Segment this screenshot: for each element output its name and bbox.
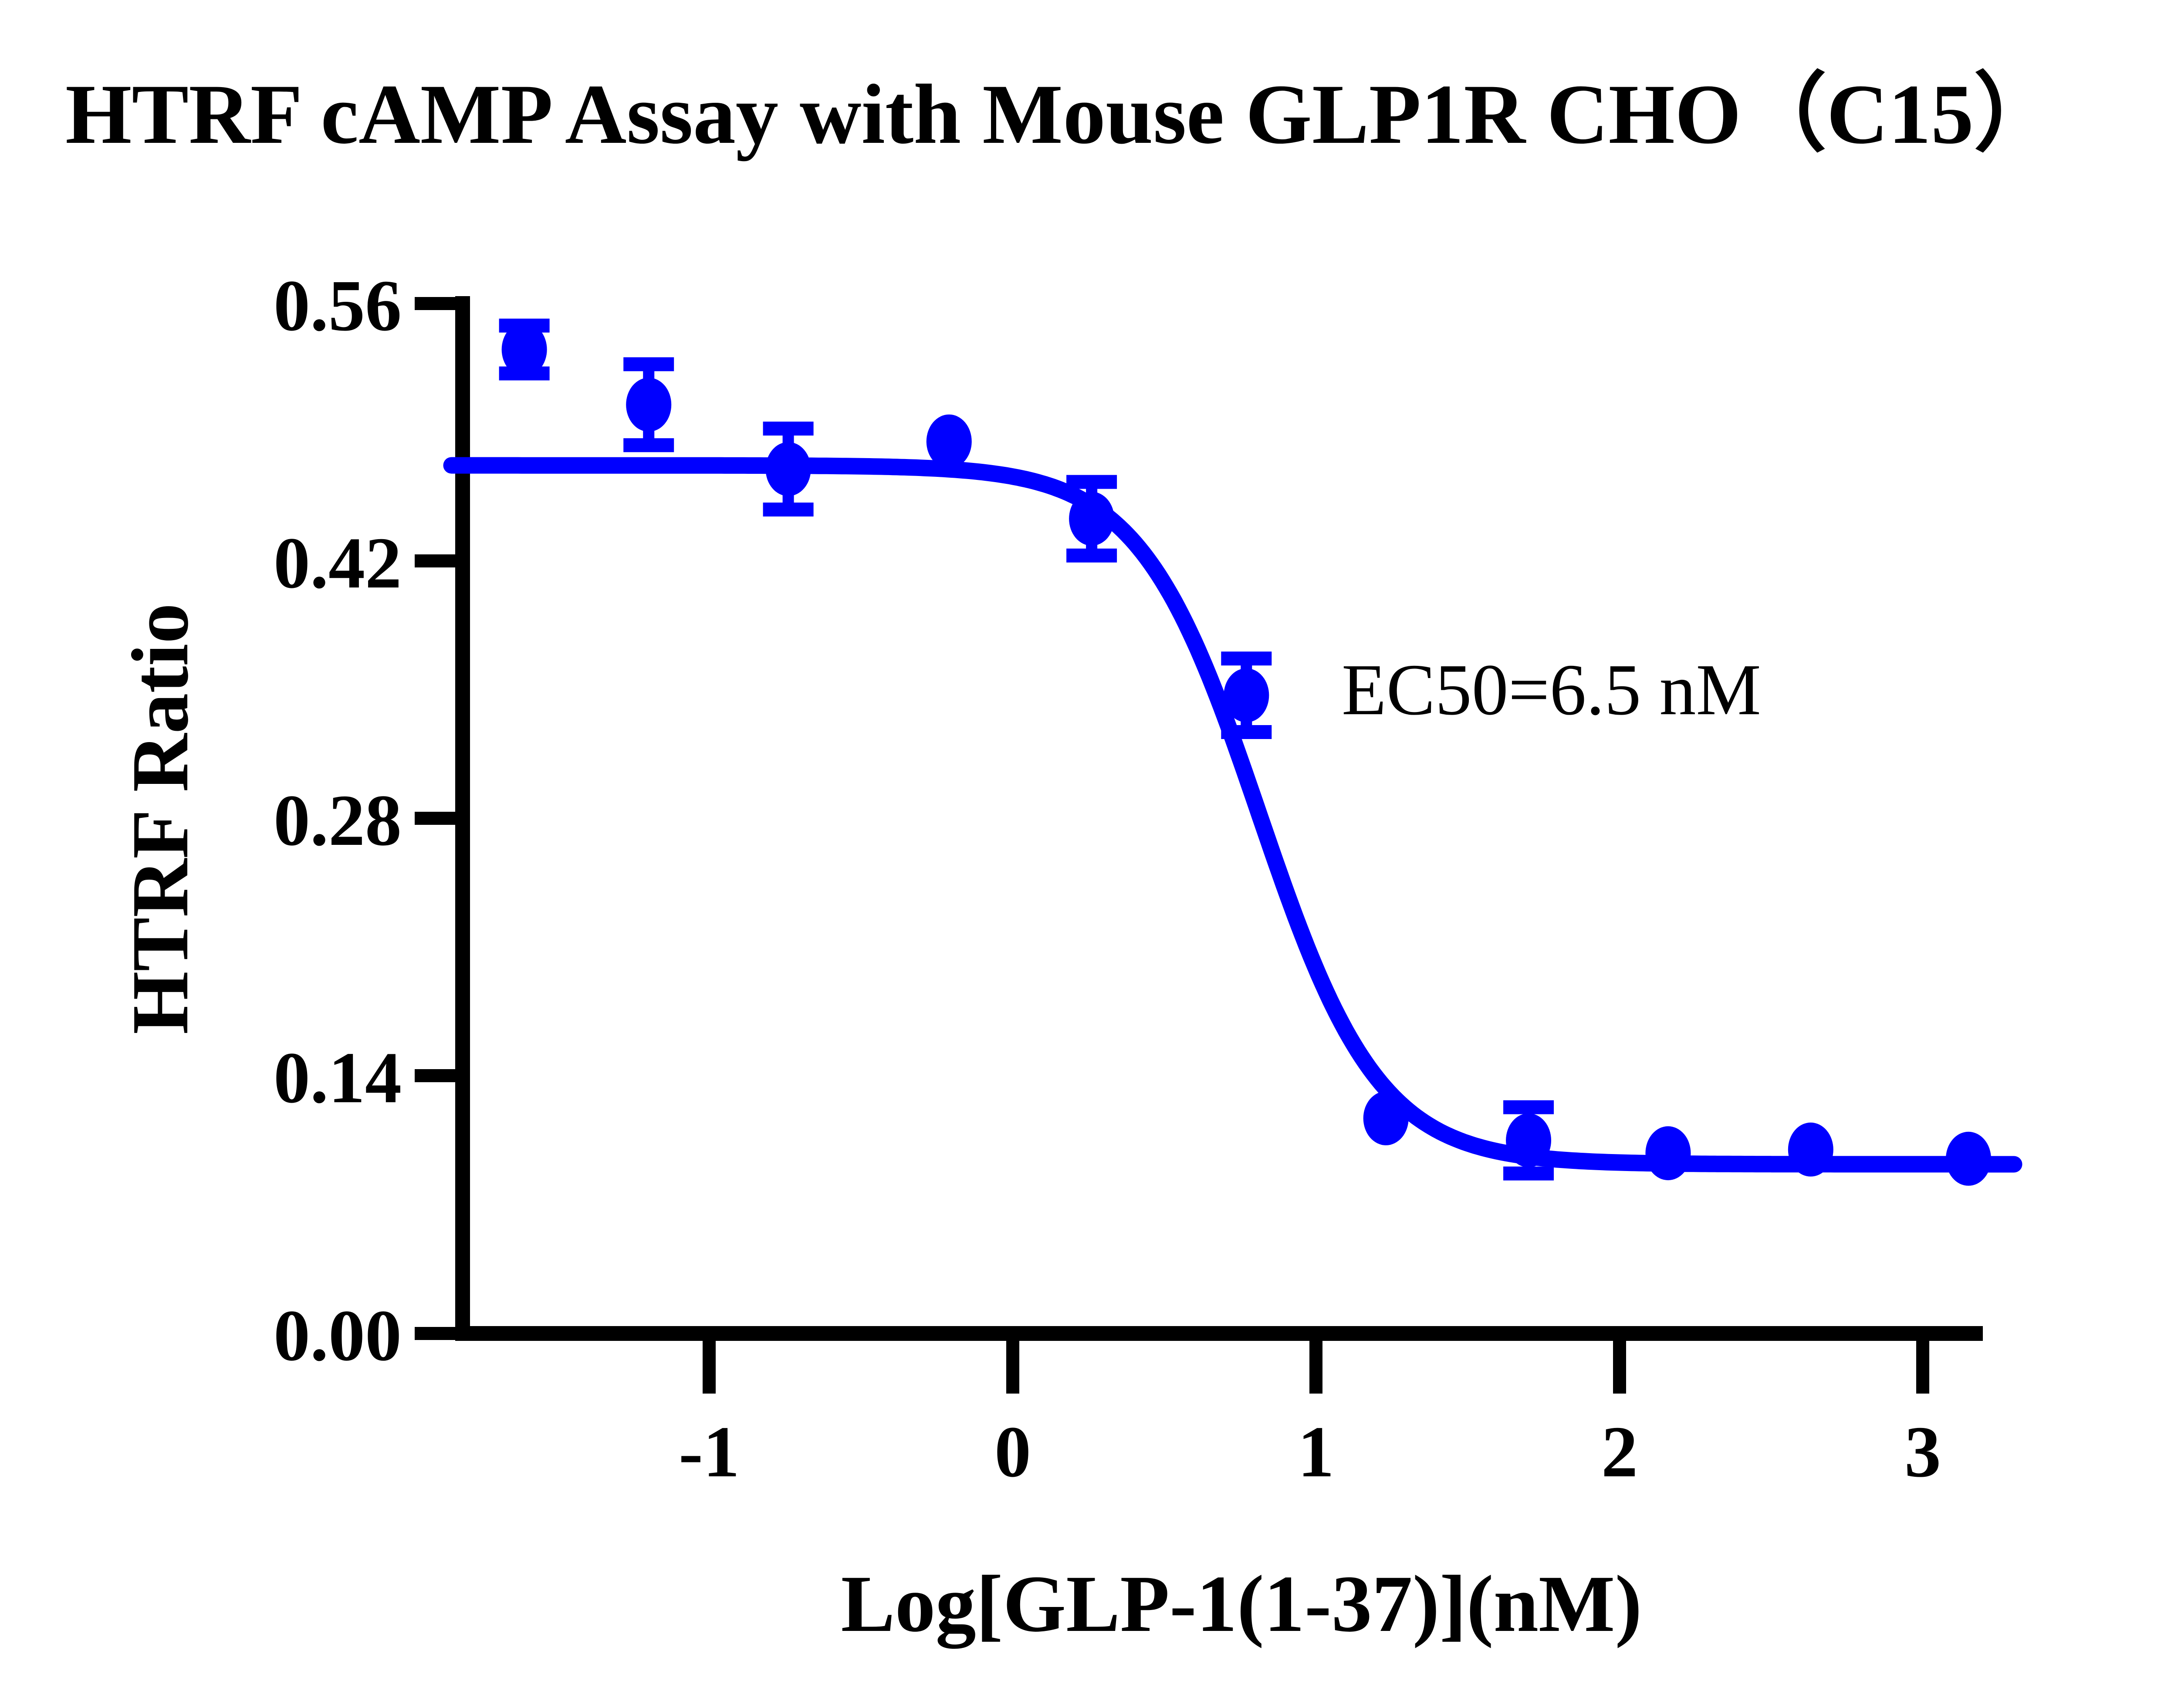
data-point (1363, 1091, 1409, 1145)
y-tick-label-0: 0.56 (274, 265, 402, 346)
x-axis-ticks (709, 1340, 1923, 1394)
fit-curve (452, 466, 2014, 1165)
data-point (1224, 668, 1269, 722)
data-point (502, 323, 547, 377)
x-tick-label-2: 1 (1298, 1411, 1334, 1492)
y-tick-label-2: 0.28 (274, 780, 402, 861)
data-series-layer (452, 323, 2014, 1186)
chart-figure: HTRF cAMP Assay with Mouse GLP1R CHO（C15… (0, 0, 2178, 1708)
data-point (766, 442, 811, 496)
x-axis-title: Log[GLP-1(1-37)](nM) (841, 1559, 1642, 1649)
x-tick-label-3: 2 (1601, 1411, 1638, 1492)
ec50-annotation: EC50=6.5 nM (1342, 649, 1761, 730)
data-point (1069, 492, 1114, 546)
data-point (1506, 1114, 1551, 1168)
chart-plot-area: 0.56 0.42 0.28 0.14 0.00 -1 0 1 2 3 Log[… (0, 0, 2178, 1708)
y-tick-label-1: 0.42 (274, 523, 402, 604)
x-tick-label-1: 0 (994, 1411, 1031, 1492)
y-axis-tick-labels: 0.56 0.42 0.28 0.14 0.00 (274, 265, 402, 1376)
x-tick-label-4: 3 (1904, 1411, 1941, 1492)
data-point (1788, 1123, 1833, 1177)
data-point (626, 378, 671, 432)
data-point (927, 415, 972, 469)
x-axis-tick-labels: -1 0 1 2 3 (679, 1411, 1941, 1492)
axis-lines (455, 296, 1983, 1340)
y-axis-title: HTRF Ratio (115, 603, 205, 1034)
data-point (1645, 1126, 1691, 1180)
data-point (1946, 1132, 1991, 1186)
y-tick-label-4: 0.00 (274, 1295, 402, 1376)
x-tick-label-0: -1 (679, 1411, 740, 1492)
y-tick-label-3: 0.14 (274, 1037, 402, 1118)
